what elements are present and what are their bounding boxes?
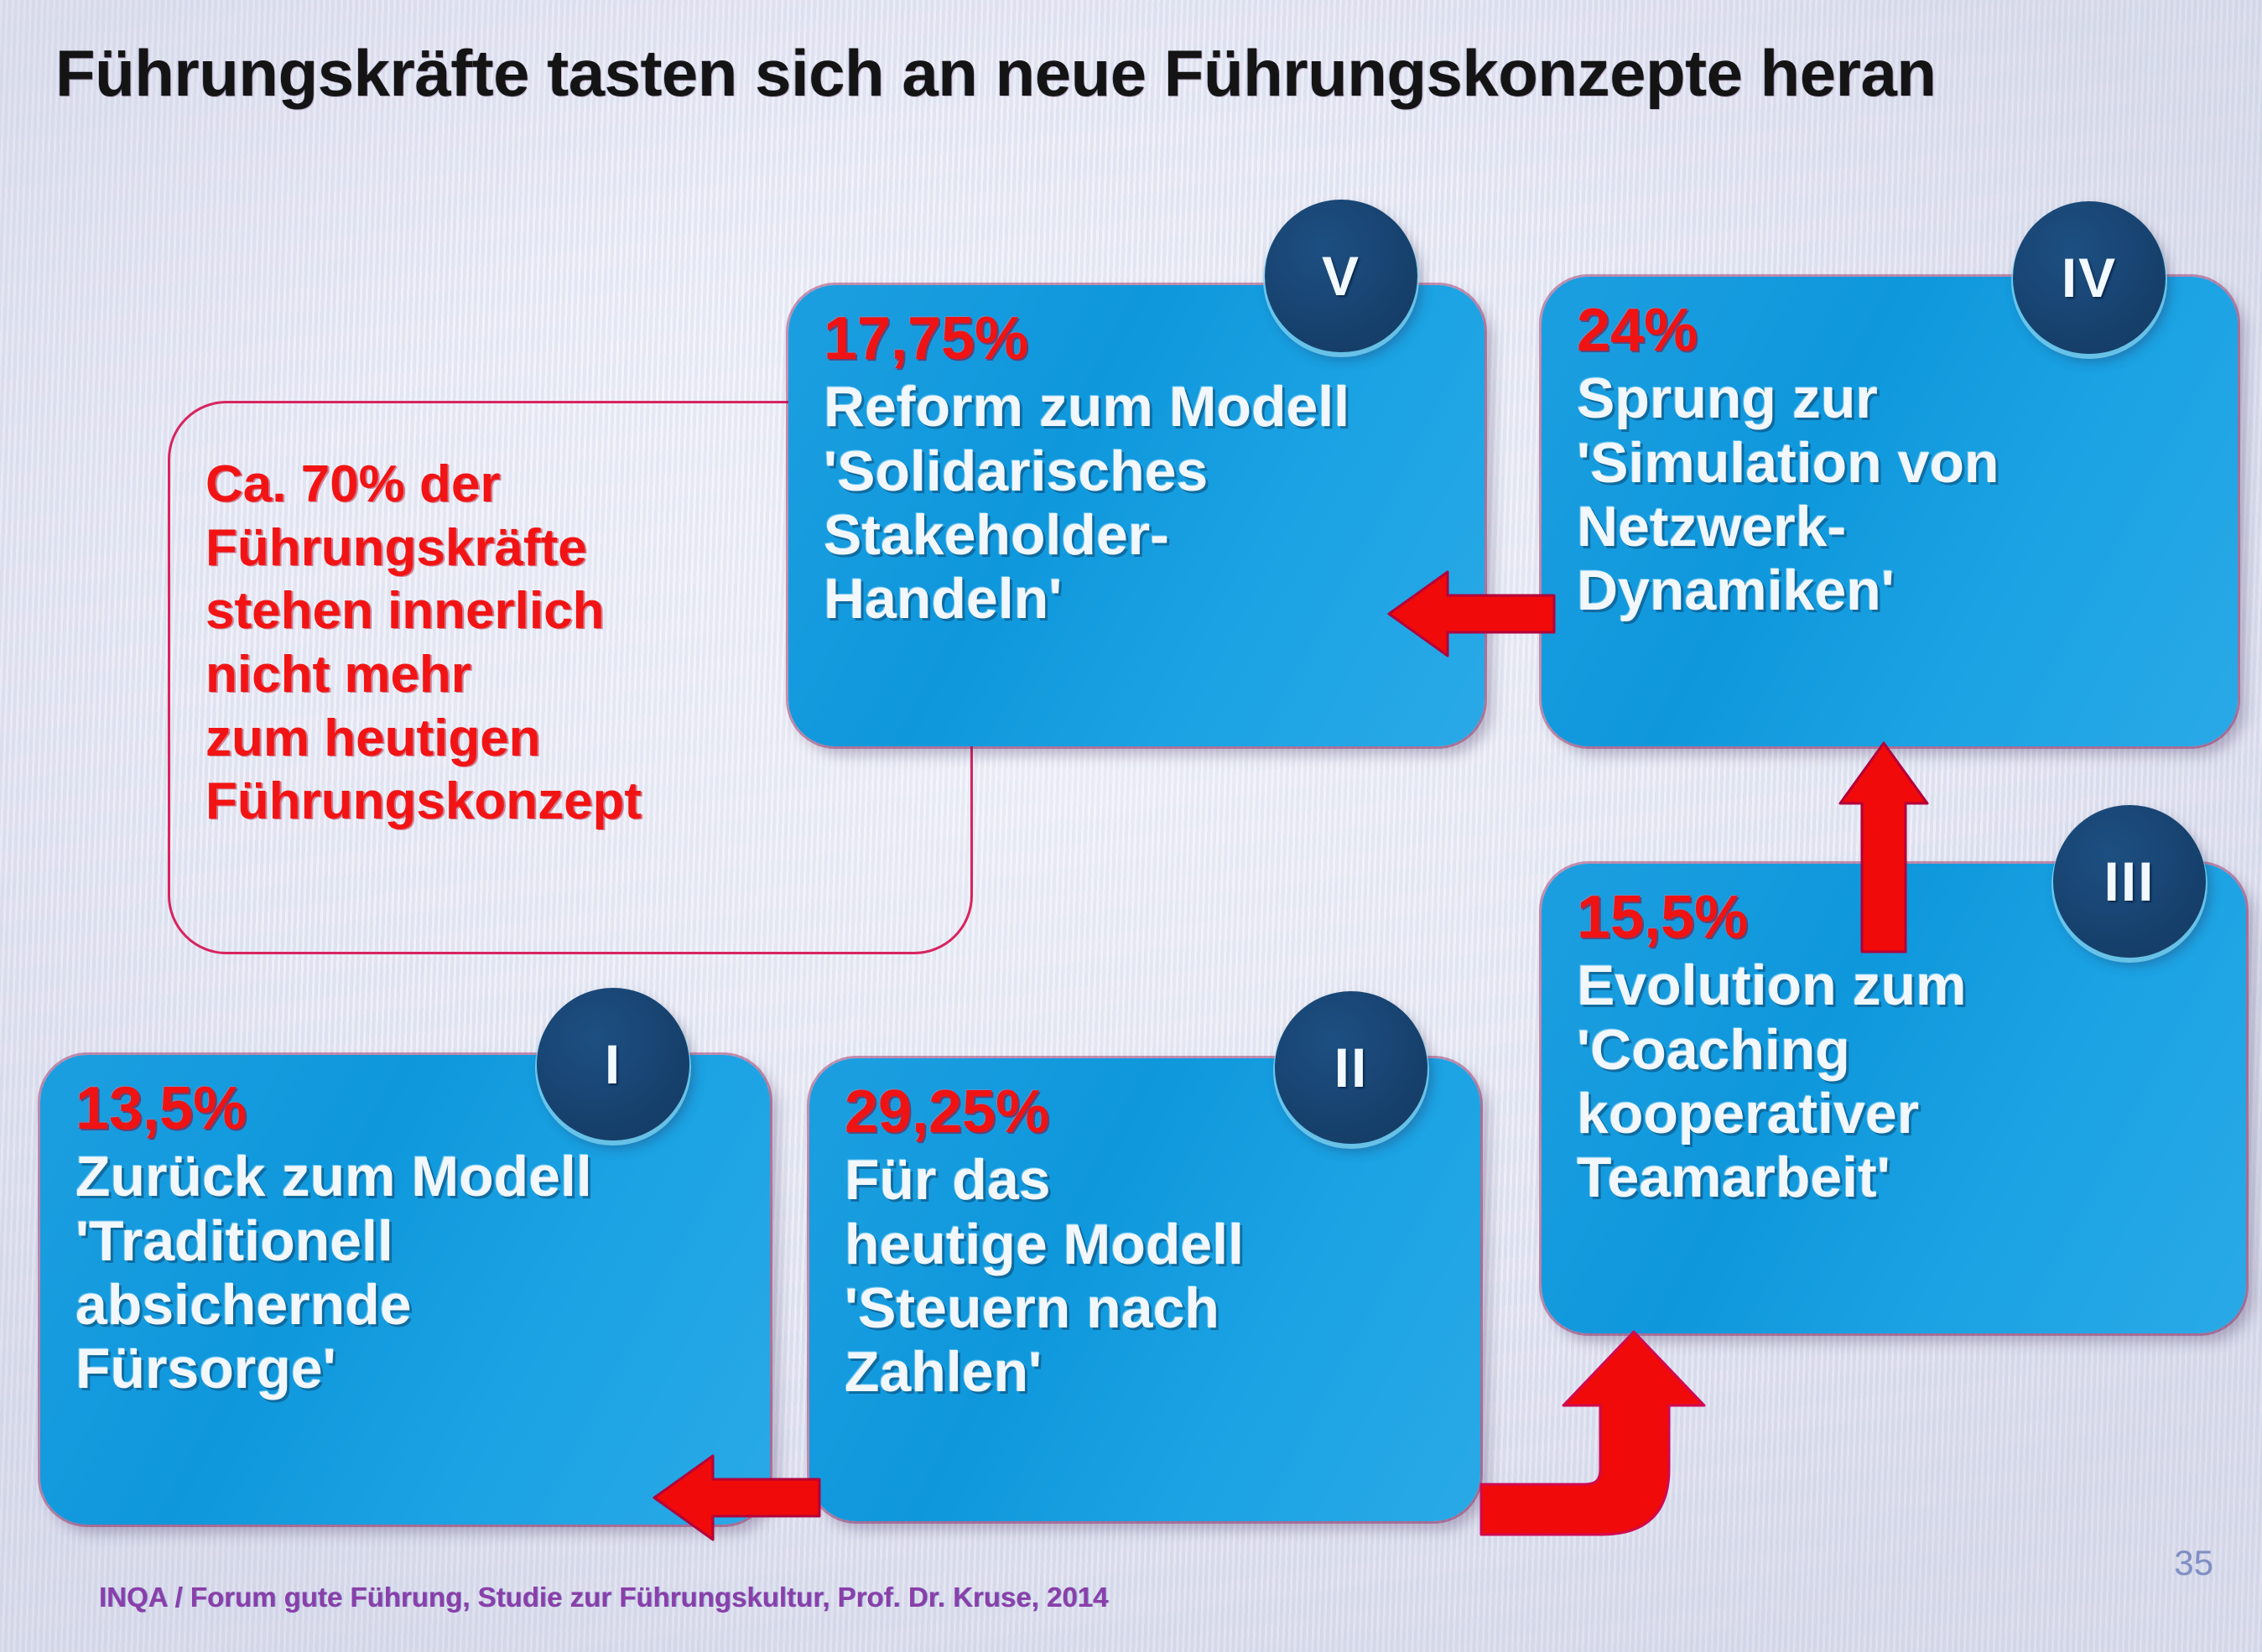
model-card-ii-line-4: Zahlen': [845, 1340, 1447, 1404]
badge-ii: II: [1275, 991, 1427, 1144]
model-card-v-line-2: 'Solidarisches: [824, 439, 1451, 503]
model-card-ii-line-1: Für das: [845, 1148, 1447, 1212]
callout-line-4: nicht mehr: [205, 643, 809, 707]
callout-line-1: Ca. 70% der: [205, 453, 809, 517]
model-card-ii-line-3: 'Steuern nach: [845, 1276, 1447, 1340]
callout-line-5: zum heutigen: [205, 707, 809, 771]
model-card-iv-line-2: 'Simulation von: [1577, 431, 2204, 495]
badge-iii-label: III: [2103, 849, 2155, 913]
page-number: 35: [2174, 1543, 2213, 1583]
slide-canvas: Führungskräfte tasten sich an neue Führu…: [0, 0, 2262, 1652]
model-card-v-line-4: Handeln': [824, 567, 1451, 631]
arrow-ii-to-i-icon: [647, 1447, 824, 1548]
model-card-v-line-3: Stakeholder-: [824, 503, 1451, 567]
badge-iii: III: [2053, 805, 2206, 958]
model-card-i-body: Zurück zum Modell 'Traditionell absicher…: [75, 1145, 736, 1400]
callout-line-2: Führungskräfte: [205, 517, 809, 580]
model-card-iii-line-4: Teamarbeit': [1577, 1145, 2213, 1209]
source-citation: INQA / Forum gute Führung, Studie zur Fü…: [99, 1582, 1108, 1613]
badge-v-label: V: [1322, 244, 1360, 308]
model-card-i-line-3: absichernde: [75, 1273, 736, 1337]
model-card-iv-line-1: Sprung zur: [1577, 366, 2204, 430]
page-title: Führungskräfte tasten sich an neue Führu…: [55, 35, 2202, 112]
badge-i: I: [537, 988, 689, 1140]
arrow-iv-to-v-icon: [1382, 564, 1558, 664]
arrow-ii-to-iii-icon: [1476, 1325, 1728, 1543]
badge-iv-label: IV: [2062, 246, 2117, 309]
callout-line-3: stehen innerlich: [205, 579, 809, 643]
model-card-ii-body: Für das heutige Modell 'Steuern nach Zah…: [845, 1148, 1447, 1404]
arrow-iii-to-iv-icon: [1833, 738, 1934, 956]
model-card-v-content: 17,75% Reform zum Modell 'Solidarisches …: [788, 285, 1485, 746]
callout-text: Ca. 70% der Führungskräfte stehen innerl…: [205, 453, 809, 834]
model-card-v-body: Reform zum Modell 'Solidarisches Stakeho…: [824, 375, 1451, 631]
model-card-iii-line-3: kooperativer: [1577, 1082, 2213, 1145]
model-card-v[interactable]: 17,75% Reform zum Modell 'Solidarisches …: [788, 285, 1485, 746]
model-card-iv-body: Sprung zur 'Simulation von Netzwerk- Dyn…: [1577, 366, 2204, 622]
model-card-ii-line-2: heutige Modell: [845, 1213, 1447, 1276]
model-card-iv[interactable]: 24% Sprung zur 'Simulation von Netzwerk-…: [1542, 277, 2238, 746]
model-card-v-line-1: Reform zum Modell: [824, 375, 1451, 439]
model-card-iii-line-2: 'Coaching: [1577, 1018, 2213, 1082]
model-card-iv-content: 24% Sprung zur 'Simulation von Netzwerk-…: [1542, 277, 2238, 746]
badge-v: V: [1265, 200, 1417, 352]
badge-i-label: I: [605, 1032, 621, 1096]
badge-ii-label: II: [1334, 1036, 1369, 1099]
model-card-iii-line-1: Evolution zum: [1577, 953, 2213, 1017]
model-card-iv-line-4: Dynamiken': [1577, 558, 2204, 622]
model-card-i-line-4: Fürsorge': [75, 1337, 736, 1400]
callout-line-6: Führungskonzept: [205, 770, 809, 834]
badge-iv: IV: [2013, 201, 2166, 354]
model-card-iv-line-3: Netzwerk-: [1577, 495, 2204, 558]
model-card-i-line-1: Zurück zum Modell: [75, 1145, 736, 1208]
model-card-iii-body: Evolution zum 'Coaching kooperativer Tea…: [1577, 953, 2213, 1209]
model-card-i-line-2: 'Traditionell: [75, 1209, 736, 1273]
